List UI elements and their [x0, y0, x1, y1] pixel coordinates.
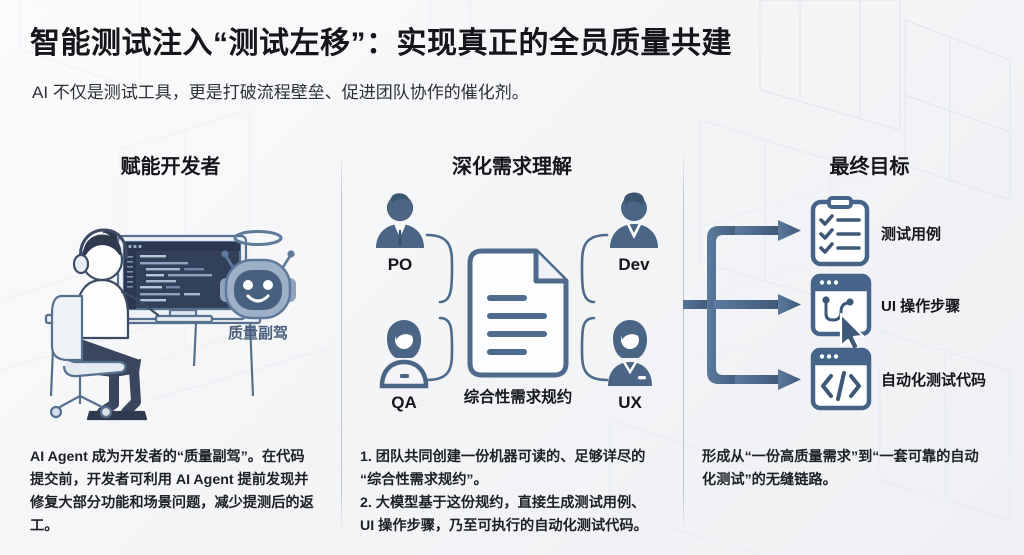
- output-item-ui-steps: UI 操作步骤: [813, 276, 960, 350]
- page-title: 智能测试注入“测试左移”：实现真正的全员质量共建: [30, 18, 732, 62]
- caption-text-2b: “综合性需求规约”。: [360, 469, 660, 492]
- robot-label: 质量副驾: [228, 324, 288, 342]
- connector-po: [427, 235, 452, 302]
- developer-illustration: 质量副驾: [18, 186, 334, 442]
- caption-text-2a: 1. 团队共同创建一份机器可读的、足够详尽的: [360, 446, 660, 469]
- connector-ux: [582, 318, 607, 380]
- page-subtitle: AI 不仅是测试工具，更是打破流程壁垒、促进团队协作的催化剂。: [32, 78, 529, 103]
- connector-dev: [582, 235, 607, 302]
- requirement-spec-illustration: 综合性需求规约 PO Dev QA: [352, 190, 682, 436]
- caption-column-1: AI Agent 成为开发者的“质量副驾”。在代码提交前，开发者可利用 AI A…: [30, 446, 315, 538]
- avatar-qa: QA: [382, 320, 426, 412]
- avatar-dev: Dev: [610, 193, 658, 275]
- document-icon: 综合性需求规约: [464, 251, 573, 406]
- caption-text-3a: 形成从“一份高质量需求”到“一套可靠的自动: [702, 446, 997, 469]
- caption-column-2: 1. 团队共同创建一份机器可读的、足够详尽的 “综合性需求规约”。 2. 大模型…: [360, 446, 660, 538]
- avatar-label-po: PO: [388, 255, 413, 274]
- document-label: 综合性需求规约: [464, 387, 573, 406]
- slide-root: 智能测试注入“测试左移”：实现真正的全员质量共建 AI 不仅是测试工具，更是打破…: [0, 0, 1024, 555]
- caption-column-3: 形成从“一份高质量需求”到“一套可靠的自动 化测试”的无缝链路。: [702, 446, 997, 492]
- output-item-code: 自动化测试代码: [813, 350, 986, 408]
- avatar-label-dev: Dev: [618, 255, 650, 274]
- output-label-2: UI 操作步骤: [881, 297, 960, 315]
- caption-text-2d: UI 操作步骤，乃至可执行的自动化测试代码。: [360, 515, 660, 538]
- column-heading-3: 最终目标: [683, 150, 1024, 179]
- caption-text-1: AI Agent 成为开发者的“质量副驾”。在代码提交前，开发者可利用 AI A…: [30, 446, 315, 538]
- avatar-label-ux: UX: [618, 393, 642, 412]
- output-label-1: 测试用例: [881, 225, 941, 243]
- connector-qa: [427, 318, 452, 380]
- column-heading-1: 赋能开发者: [0, 150, 341, 179]
- caption-text-2c: 2. 大模型基于这份规约，直接生成测试用例、: [360, 492, 660, 515]
- column-heading-2: 深化需求理解: [341, 150, 683, 179]
- final-goal-illustration: 测试用例 UI 操作步骤: [683, 190, 1024, 440]
- avatar-po: PO: [376, 193, 424, 274]
- avatar-label-qa: QA: [391, 393, 417, 412]
- branching-arrow: [683, 220, 801, 390]
- caption-text-3b: 化测试”的无缝链路。: [702, 469, 997, 492]
- output-item-checklist: 测试用例: [813, 198, 941, 264]
- output-label-3: 自动化测试代码: [881, 371, 986, 389]
- avatar-ux: UX: [608, 320, 652, 412]
